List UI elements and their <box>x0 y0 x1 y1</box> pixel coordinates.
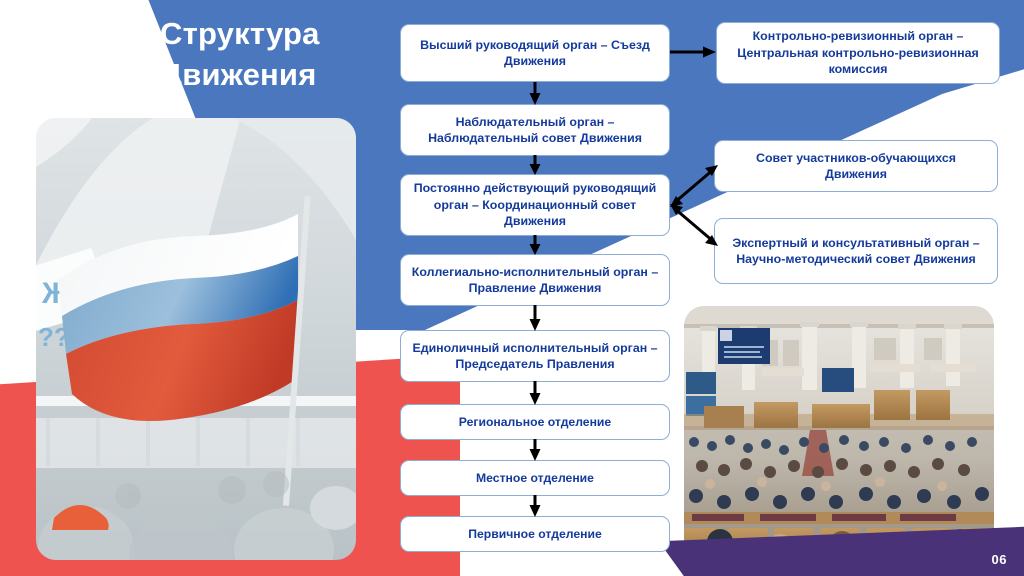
flow-box-coordination[interactable]: Постоянно действующий руководящий орган … <box>400 174 670 236</box>
flow-box-local-branch[interactable]: Местное отделение <box>400 460 670 496</box>
flow-box-audit[interactable]: Контрольно-ревизионный орган – Центральн… <box>716 22 1000 84</box>
arrow-congress-to-supervisory <box>527 82 543 106</box>
flow-box-expert-council-label: Экспертный и консультативный орган – Нау… <box>724 235 988 268</box>
page-title: Структура Движения <box>160 14 390 96</box>
arrow-local-to-primary <box>527 495 543 518</box>
arrow-congress-to-audit <box>670 44 718 60</box>
flow-box-audit-label: Контрольно-ревизионный орган – Центральн… <box>726 28 990 77</box>
page-number: 06 <box>992 552 1007 567</box>
flow-box-regional-branch-label: Региональное отделение <box>459 414 611 430</box>
flow-box-students-council[interactable]: Совет участников-обучающихся Движения <box>714 140 998 192</box>
flow-box-chairman-label: Единоличный исполнительный орган – Предс… <box>410 340 660 373</box>
arrow-supervisory-to-coordination <box>527 155 543 176</box>
flow-box-primary-branch[interactable]: Первичное отделение <box>400 516 670 552</box>
russian-flag-photo: Ж ?? <box>36 118 356 560</box>
arrow-chairman-to-regional <box>527 381 543 406</box>
flow-box-local-branch-label: Местное отделение <box>476 470 594 486</box>
slide: Структура Движения <box>0 0 1024 576</box>
arrow-regional-to-local <box>527 439 543 462</box>
flow-box-supervisory[interactable]: Наблюдательный орган – Наблюдательный со… <box>400 104 670 156</box>
flow-box-students-council-label: Совет участников-обучающихся Движения <box>724 150 988 183</box>
flow-box-primary-branch-label: Первичное отделение <box>468 526 601 542</box>
flow-box-congress[interactable]: Высший руководящий орган – Съезд Движени… <box>400 24 670 82</box>
flow-box-regional-branch[interactable]: Региональное отделение <box>400 404 670 440</box>
assembly-hall-photo <box>684 306 994 558</box>
arrow-board-to-chairman <box>527 305 543 332</box>
flow-box-expert-council[interactable]: Экспертный и консультативный орган – Нау… <box>714 218 998 284</box>
flow-box-chairman[interactable]: Единоличный исполнительный орган – Предс… <box>400 330 670 382</box>
flow-box-board-label: Коллегиально-исполнительный орган – Прав… <box>410 264 660 297</box>
flow-box-board[interactable]: Коллегиально-исполнительный орган – Прав… <box>400 254 670 306</box>
flow-box-coordination-label: Постоянно действующий руководящий орган … <box>410 180 660 229</box>
page-title-line-2: Движения <box>160 55 390 96</box>
arrow-coordination-to-board <box>527 235 543 256</box>
flow-box-supervisory-label: Наблюдательный орган – Наблюдательный со… <box>410 114 660 147</box>
flow-box-congress-label: Высший руководящий орган – Съезд Движени… <box>410 37 660 70</box>
page-title-line-1: Структура <box>160 14 390 55</box>
arrow-coordination-expert-council <box>668 202 720 248</box>
